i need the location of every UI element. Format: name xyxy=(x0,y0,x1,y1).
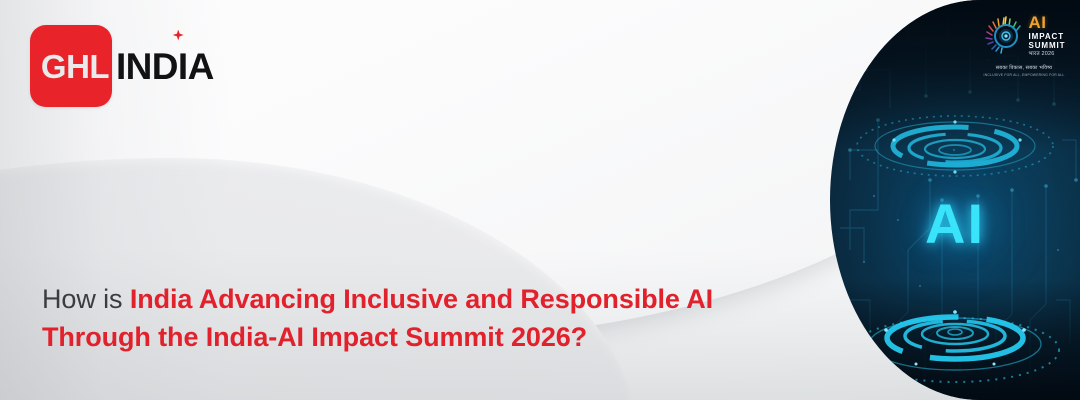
summit-tagline-english: INCLUSIVE FOR ALL, EMPOWERING FOR ALL xyxy=(984,73,1065,77)
summit-summit-text: SUMMIT xyxy=(1029,42,1066,50)
summit-hindi-subtext: भारत 2026 xyxy=(1029,52,1055,58)
page-title: How is India Advancing Inclusive and Res… xyxy=(42,280,762,357)
ai-impact-summit-emblem-icon xyxy=(983,15,1025,57)
brand-logo-wordmark: INDIA xyxy=(116,48,214,85)
promo-banner: GHL INDIA How is India Advancing Inclusi… xyxy=(0,0,1080,400)
brand-logo-mark-text: GHL xyxy=(41,50,109,83)
summit-ai-text: AI xyxy=(1029,14,1047,31)
background-swoosh-bottom xyxy=(0,158,640,400)
ai-visual-panel: AI xyxy=(830,0,1080,400)
diamond-spark-icon xyxy=(173,30,184,41)
summit-impact-text: IMPACT xyxy=(1029,33,1064,41)
brand-logo[interactable]: GHL INDIA xyxy=(30,25,214,107)
ai-impact-summit-logo[interactable]: AI IMPACT SUMMIT भारत 2026 सबका विकास, स… xyxy=(976,14,1072,77)
headline-emphasis-line2: Through the India-AI Impact Summit 2026? xyxy=(42,322,587,352)
tech-ring-hud-icon-top xyxy=(850,100,1060,192)
brand-logo-word-text: INDIA xyxy=(116,46,214,87)
headline-emphasis-line1: India Advancing Inclusive and Responsibl… xyxy=(130,284,713,314)
headline-lead: How is xyxy=(42,284,130,314)
ai-glow-text: AI xyxy=(830,196,1080,252)
tech-ring-hud-icon-bottom xyxy=(844,292,1066,392)
brand-logo-mark: GHL xyxy=(30,25,112,107)
summit-tagline-hindi: सबका विकास, सबका भविष्य xyxy=(996,65,1053,71)
